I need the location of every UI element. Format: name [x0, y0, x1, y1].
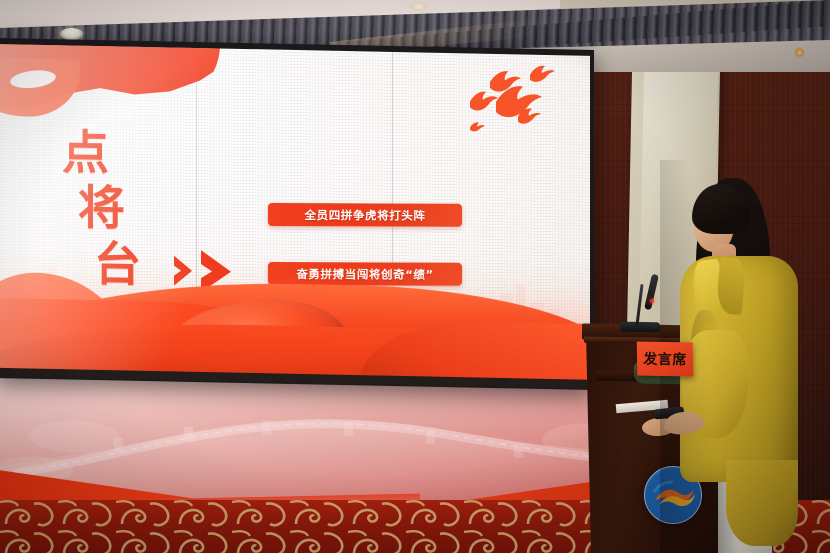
slogan-banner-1-text: 全员四拼争虎将打头阵 [305, 207, 426, 224]
conference-hall-scene: 点 将 台 全员四拼争虎将打头阵 奋勇拼搏当闯将创奇“绩” 多点发力做名将谋发展 [0, 0, 830, 553]
ceiling-lamp-icon [795, 48, 804, 57]
microphone-base [620, 322, 660, 333]
red-cloud-decoration-top-2 [0, 57, 80, 117]
microphone-led-indicator [650, 299, 654, 303]
podium-nameplate-text: 发言席 [643, 349, 687, 370]
slogan-banner-1[interactable]: 全员四拼争虎将打头阵 [268, 203, 462, 227]
speaker-coat-hem [726, 460, 798, 546]
downlight-icon [60, 28, 83, 40]
led-screen[interactable]: 点 将 台 全员四拼争虎将打头阵 奋勇拼搏当闯将创奇“绩” 多点发力做名将谋发展 [0, 44, 590, 386]
downlight-secondary-icon [410, 2, 428, 11]
title-char-2: 将 [78, 181, 127, 237]
title-char-1: 点 [62, 125, 111, 181]
podium-nameplate: 发言席 [637, 342, 694, 377]
flying-dove-icon-group [440, 59, 590, 142]
